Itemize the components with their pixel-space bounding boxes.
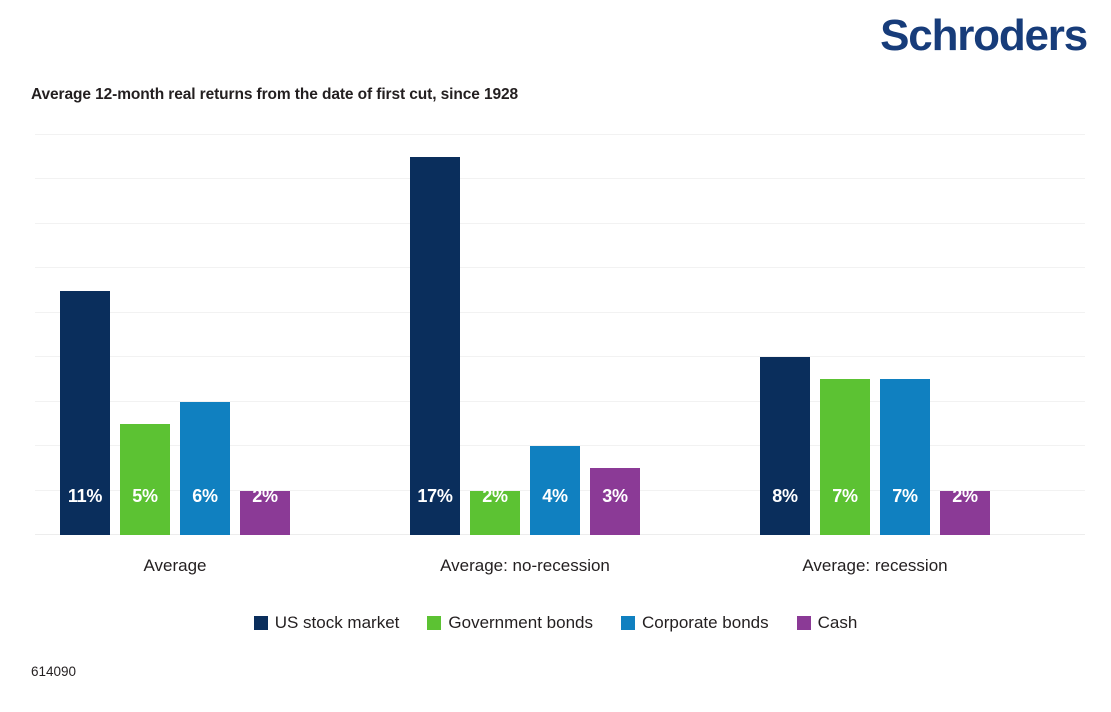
bar-corporate-bonds-average-recession: 7% (880, 379, 930, 535)
bar-government-bonds-average-recession: 7% (820, 379, 870, 535)
bar-cash-average: 2% (240, 491, 290, 535)
legend-swatch-icon (621, 616, 635, 630)
schroders-logo: Schroders (880, 14, 1087, 58)
x-axis-label-average-recession: Average: recession (700, 556, 1050, 576)
legend-label: Corporate bonds (642, 613, 769, 633)
bars-layer: 11%5%6%2%17%2%4%3%8%7%7%2% (35, 135, 1085, 535)
chart-plot-area: 11%5%6%2%17%2%4%3%8%7%7%2% (35, 135, 1085, 535)
bar-value-label: 5% (132, 486, 157, 507)
bar-corporate-bonds-average-no-recession: 4% (530, 446, 580, 535)
bar-government-bonds-average-no-recession: 2% (470, 491, 520, 535)
bar-value-label: 6% (192, 486, 217, 507)
legend-item-government-bonds[interactable]: Government bonds (427, 613, 593, 633)
bar-value-label: 2% (952, 486, 977, 507)
bar-value-label: 8% (772, 486, 797, 507)
bar-cash-average-no-recession: 3% (590, 468, 640, 535)
x-axis-label-average-no-recession: Average: no-recession (350, 556, 700, 576)
legend-item-corporate-bonds[interactable]: Corporate bonds (621, 613, 769, 633)
bar-government-bonds-average: 5% (120, 424, 170, 535)
footer-reference-code: 614090 (31, 664, 76, 679)
legend-item-cash[interactable]: Cash (797, 613, 858, 633)
bar-value-label: 7% (892, 486, 917, 507)
x-axis-label-average: Average (0, 556, 350, 576)
bar-value-label: 2% (252, 486, 277, 507)
bar-value-label: 4% (542, 486, 567, 507)
chart-legend: US stock marketGovernment bondsCorporate… (0, 613, 1111, 633)
bar-us-stock-market-average-recession: 8% (760, 357, 810, 535)
legend-swatch-icon (797, 616, 811, 630)
legend-swatch-icon (254, 616, 268, 630)
bar-value-label: 3% (602, 486, 627, 507)
bar-corporate-bonds-average: 6% (180, 402, 230, 535)
bar-value-label: 7% (832, 486, 857, 507)
bar-us-stock-market-average-no-recession: 17% (410, 157, 460, 535)
bar-value-label: 17% (417, 486, 452, 507)
legend-item-us-stock-market[interactable]: US stock market (254, 613, 400, 633)
bar-cash-average-recession: 2% (940, 491, 990, 535)
chart-title: Average 12-month real returns from the d… (31, 86, 518, 104)
bar-value-label: 2% (482, 486, 507, 507)
legend-label: Government bonds (448, 613, 593, 633)
bar-value-label: 11% (68, 486, 102, 507)
legend-label: Cash (818, 613, 858, 633)
legend-label: US stock market (275, 613, 400, 633)
legend-swatch-icon (427, 616, 441, 630)
x-axis-labels: AverageAverage: no-recessionAverage: rec… (35, 556, 1085, 584)
bar-us-stock-market-average: 11% (60, 291, 110, 535)
